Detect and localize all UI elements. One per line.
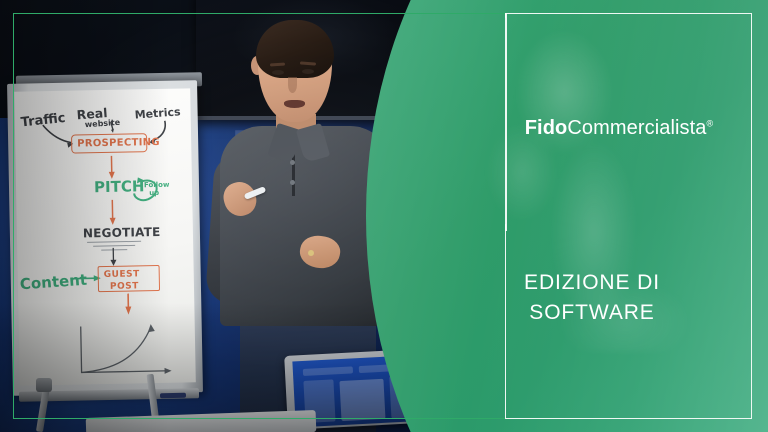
brand-wordmark-secondary: Commercialista (567, 117, 706, 139)
whiteboard-label-guest: GUEST (104, 269, 140, 280)
brand-wordmark-trademark: ® (707, 118, 714, 128)
headline-line-2: SOFTWARE (452, 298, 732, 328)
whiteboard-label-up: up (149, 189, 159, 197)
headline: EDIZIONE DI SOFTWARE (452, 268, 732, 328)
speaker-mouth (284, 100, 305, 108)
whiteboard-label-prospecting: PROSPECTING (77, 137, 160, 150)
speaker-nose (288, 77, 297, 93)
brand-wordmark: FidoCommercialista® (470, 118, 768, 138)
speaker-eye-left (272, 70, 284, 75)
speaker-ring (308, 250, 314, 256)
brand-wordmark-primary: Fido (525, 117, 568, 139)
promo-banner: UP S ING PLACE (0, 0, 768, 432)
whiteboard: Traffic Real website Metrics PROSPECTING… (10, 82, 200, 394)
whiteboard-marker (160, 393, 186, 398)
speaker-shirt-button-top (290, 160, 295, 165)
laptop-ui-block (339, 379, 385, 421)
tripod-clamp (36, 378, 52, 392)
whiteboard-surface: Traffic Real website Metrics PROSPECTING… (14, 88, 196, 385)
speaker-shirt-button-bottom (290, 180, 295, 185)
brand-logo: FidoCommercialista® (470, 0, 768, 150)
speaker-hair (256, 20, 334, 78)
headline-line-1: EDIZIONE DI (452, 268, 732, 298)
whiteboard-label-post: POST (110, 281, 139, 292)
speaker-eye-right (302, 69, 314, 74)
whiteboard-label-negotiate: NEGOTIATE (83, 225, 161, 240)
laptop-ui-block (303, 366, 353, 376)
whiteboard-label-follow: Follow (144, 181, 170, 189)
whiteboard-label-pitch: PITCH (94, 177, 145, 196)
